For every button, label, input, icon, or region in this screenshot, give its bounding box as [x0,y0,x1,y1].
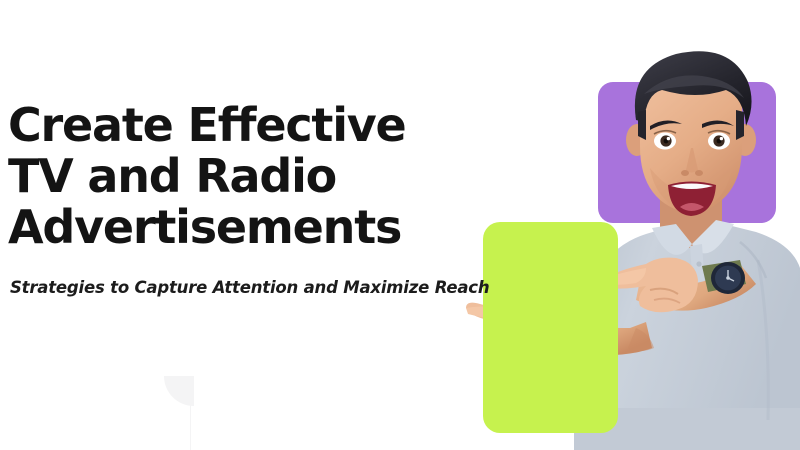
banner-canvas: Create Effective TV and Radio Advertisem… [0,0,800,450]
green-block [483,222,618,433]
card-notch-cutout [0,376,190,450]
subtitle: Strategies to Capture Attention and Maxi… [10,278,489,297]
page-title: Create Effective TV and Radio Advertisem… [8,100,478,253]
